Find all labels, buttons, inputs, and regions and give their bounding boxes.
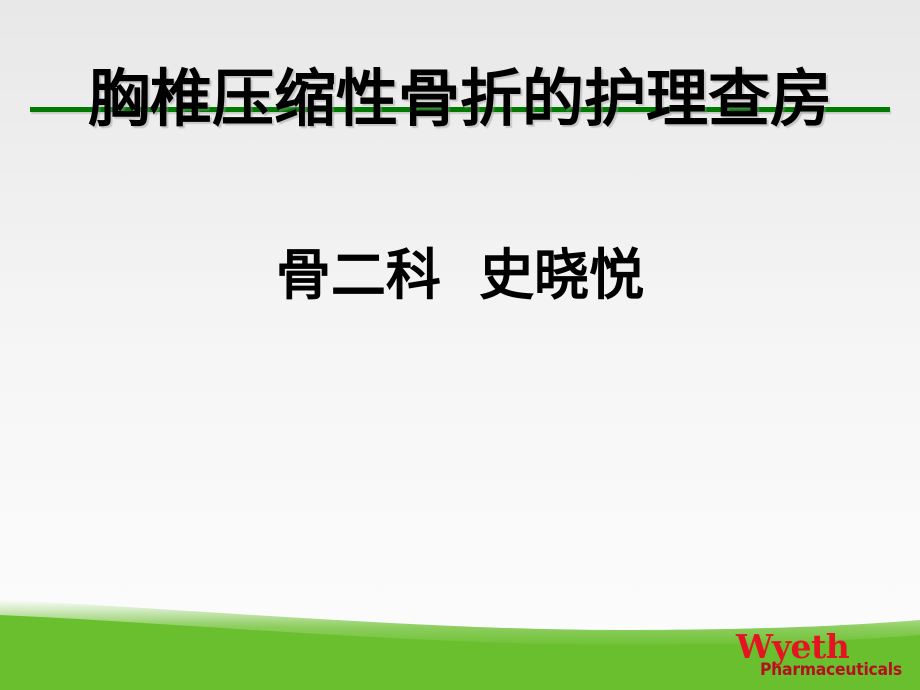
page-title: 胸椎压缩性骨折的护理查房 [0, 66, 920, 131]
slide-subtitle: 骨二科 史晓悦 [0, 245, 920, 306]
wyeth-logo: Wyeth Pharmaceuticals [736, 630, 896, 686]
wyeth-tagline-text: Pharmaceuticals [760, 661, 902, 679]
title-block: 胸椎压缩性骨折的护理查房 [0, 0, 920, 200]
wyeth-brand-text: Wyeth [736, 630, 849, 663]
slide-canvas: 胸椎压缩性骨折的护理查房 骨二科 史晓悦 Wyeth Pharmaceutica… [0, 0, 920, 690]
